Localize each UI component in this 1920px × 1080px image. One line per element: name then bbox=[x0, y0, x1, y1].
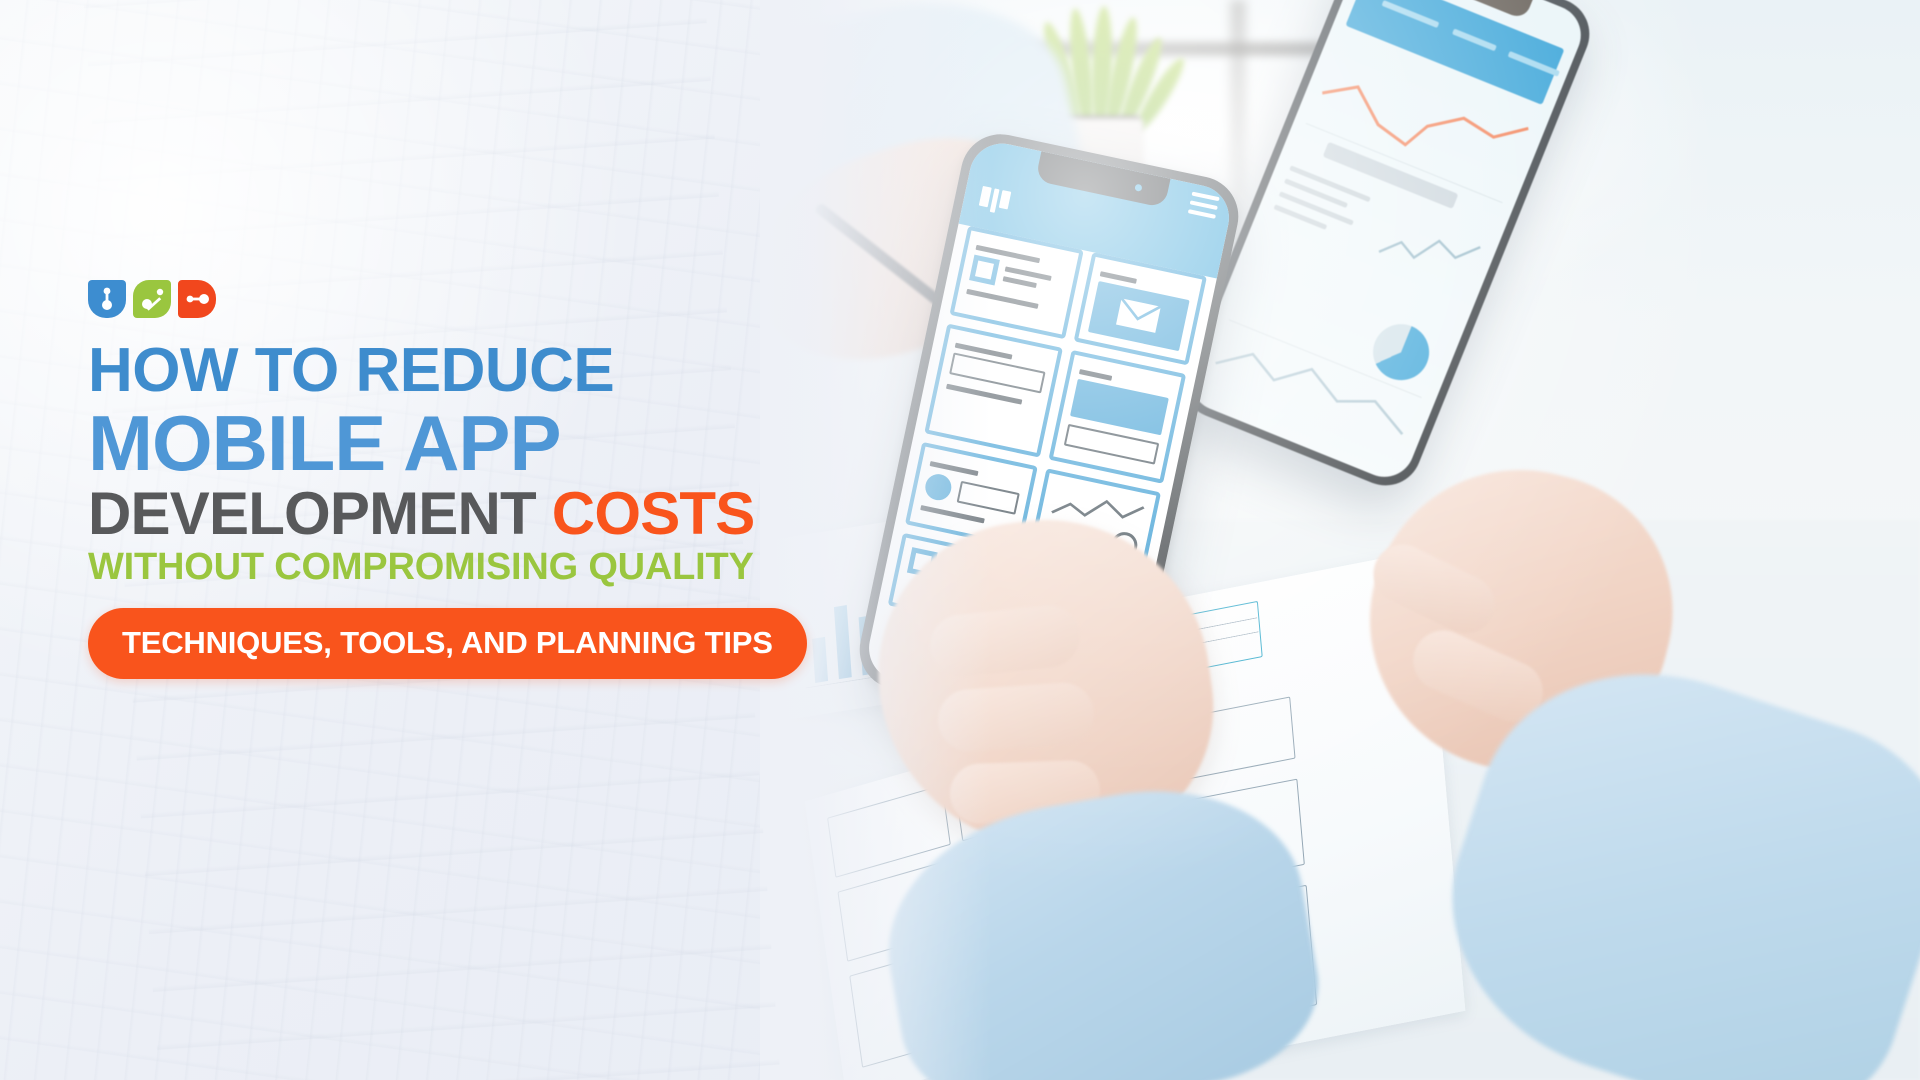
headline-line-3: DEVELOPMENT COSTS bbox=[88, 484, 828, 544]
finger-left-2 bbox=[936, 681, 1096, 754]
analytics-mini-chart bbox=[1371, 202, 1486, 303]
card-message[interactable] bbox=[1073, 252, 1207, 365]
headline-line-4: WITHOUT COMPROMISING QUALITY bbox=[88, 548, 828, 586]
radio-selected-icon[interactable] bbox=[923, 472, 954, 503]
headline-line-2: MOBILE APP bbox=[88, 404, 828, 482]
headline-line-3-main: DEVELOPMENT bbox=[88, 480, 536, 547]
logo-mark-orange-icon bbox=[178, 280, 216, 318]
logo-mark-blue-icon bbox=[88, 280, 126, 318]
front-camera-icon bbox=[1134, 184, 1142, 192]
hands-holding-phones-photo bbox=[760, 0, 1920, 1080]
subtitle-pill-badge: TECHNIQUES, TOOLS, AND PLANNING TIPS bbox=[88, 608, 807, 679]
card-form-checkbox[interactable] bbox=[949, 226, 1083, 339]
logo-mark-green-icon bbox=[133, 280, 171, 318]
page-title: HOW TO REDUCE MOBILE APP DEVELOPMENT COS… bbox=[88, 340, 828, 586]
banner-content: HOW TO REDUCE MOBILE APP DEVELOPMENT COS… bbox=[88, 280, 828, 679]
headline-line-3-accent: COSTS bbox=[552, 480, 755, 547]
brand-logo[interactable] bbox=[88, 280, 828, 318]
card-image-block[interactable] bbox=[1048, 350, 1186, 484]
envelope-icon bbox=[1087, 281, 1189, 351]
checkbox-icon[interactable] bbox=[969, 255, 1000, 286]
analytics-stat-rows bbox=[1270, 165, 1380, 253]
banner-root: HOW TO REDUCE MOBILE APP DEVELOPMENT COS… bbox=[0, 0, 1920, 1080]
card-input-fields[interactable] bbox=[924, 324, 1062, 458]
headline-line-1: HOW TO REDUCE bbox=[88, 340, 828, 402]
text-input-field-3[interactable] bbox=[957, 481, 1020, 515]
